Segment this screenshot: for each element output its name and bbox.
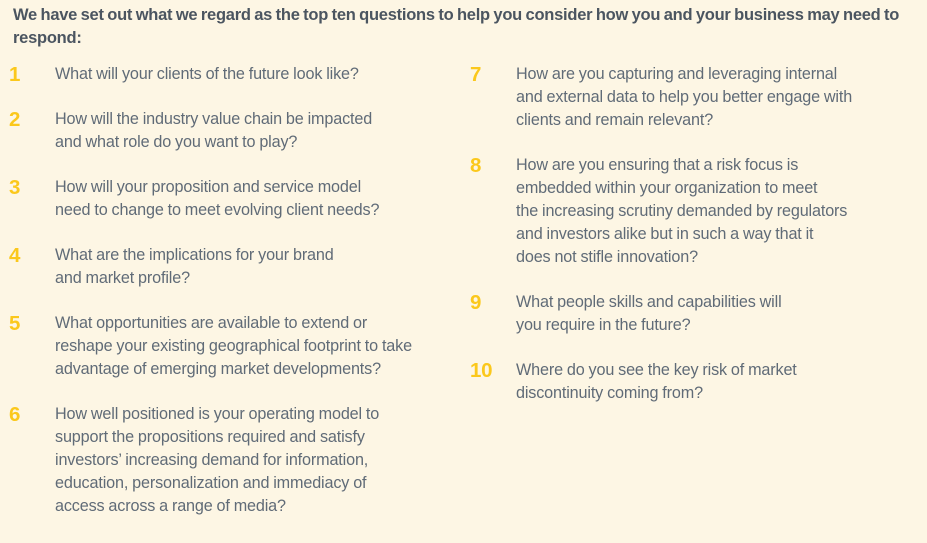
question-text: How are you capturing and leveraging int… [516, 63, 920, 132]
question-text: How are you ensuring that a risk focus i… [516, 154, 920, 269]
question-text: How will the industry value chain be imp… [55, 108, 464, 154]
questions-column-right: 7 How are you capturing and leveraging i… [470, 63, 920, 427]
question-text: What people skills and capabilities will… [516, 291, 920, 337]
question-text: How will your proposition and service mo… [55, 176, 464, 222]
question-number: 6 [9, 403, 51, 426]
question-number: 2 [9, 108, 51, 131]
list-item: 9 What people skills and capabilities wi… [470, 291, 920, 337]
question-number: 9 [470, 291, 512, 314]
question-text: What will your clients of the future loo… [55, 63, 464, 86]
question-text: What opportunities are available to exte… [55, 312, 464, 381]
list-item: 3 How will your proposition and service … [9, 176, 464, 222]
question-number: 3 [9, 176, 51, 199]
questions-columns: 1 What will your clients of the future l… [0, 63, 927, 543]
list-item: 2 How will the industry value chain be i… [9, 108, 464, 154]
list-item: 10 Where do you see the key risk of mark… [470, 359, 920, 405]
questions-column-left: 1 What will your clients of the future l… [9, 63, 464, 540]
question-number: 8 [470, 154, 512, 177]
question-number: 5 [9, 312, 51, 335]
list-item: 1 What will your clients of the future l… [9, 63, 464, 86]
question-number: 4 [9, 244, 51, 267]
question-number: 10 [470, 359, 512, 382]
list-item: 8 How are you ensuring that a risk focus… [470, 154, 920, 269]
question-text: What are the implications for your brand… [55, 244, 464, 290]
list-item: 5 What opportunities are available to ex… [9, 312, 464, 381]
intro-paragraph: We have set out what we regard as the to… [13, 4, 913, 49]
question-text: Where do you see the key risk of market … [516, 359, 920, 405]
question-text: How well positioned is your operating mo… [55, 403, 464, 518]
list-item: 7 How are you capturing and leveraging i… [470, 63, 920, 132]
list-item: 4 What are the implications for your bra… [9, 244, 464, 290]
question-number: 1 [9, 63, 51, 86]
question-number: 7 [470, 63, 512, 86]
page-root: We have set out what we regard as the to… [0, 0, 927, 543]
list-item: 6 How well positioned is your operating … [9, 403, 464, 518]
